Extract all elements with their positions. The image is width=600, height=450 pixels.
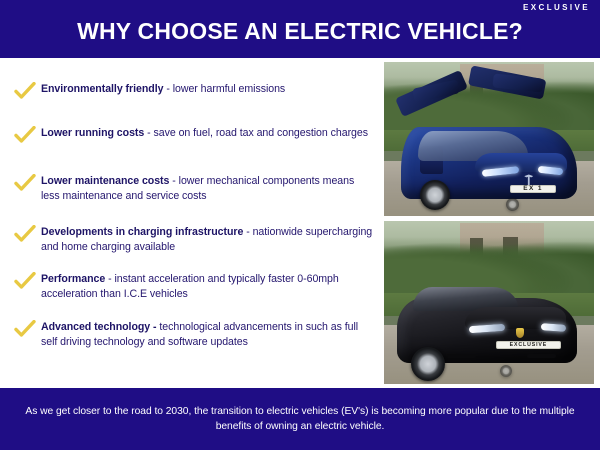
list-item-lead: Advanced technology - bbox=[41, 321, 157, 333]
list-item-lead: Lower running costs bbox=[41, 127, 144, 139]
list-item-rest: - lower harmful emissions bbox=[163, 83, 285, 95]
slide-footer: As we get closer to the road to 2030, th… bbox=[0, 388, 600, 450]
list-item: Performance - instant acceleration and t… bbox=[14, 272, 374, 301]
check-icon bbox=[14, 272, 36, 290]
benefits-list: Environmentally friendly - lower harmful… bbox=[0, 58, 378, 388]
list-item-text: Lower running costs - save on fuel, road… bbox=[41, 126, 374, 141]
list-item-text: Environmentally friendly - lower harmful… bbox=[41, 82, 374, 97]
list-item-text: Advanced technology - technological adva… bbox=[41, 320, 374, 349]
list-item: Advanced technology - technological adva… bbox=[14, 320, 374, 349]
list-item-rest: - save on fuel, road tax and congestion … bbox=[144, 127, 368, 139]
front-wheel bbox=[411, 347, 445, 381]
headlamp-left bbox=[469, 324, 506, 334]
photo-scene: EX 1 bbox=[384, 62, 594, 216]
porsche-crest-icon bbox=[516, 328, 524, 338]
black-porsche-taycan-photo: EXCLUSIVE bbox=[384, 221, 594, 384]
list-item-text: Lower maintenance costs - lower mechanic… bbox=[41, 174, 374, 203]
list-item-text: Performance - instant acceleration and t… bbox=[41, 272, 374, 301]
list-item-text: Developments in charging infrastructure … bbox=[41, 225, 374, 254]
list-item-lead: Lower maintenance costs bbox=[41, 175, 169, 187]
list-item: Developments in charging infrastructure … bbox=[14, 225, 374, 254]
slide-body: Environmentally friendly - lower harmful… bbox=[0, 58, 600, 388]
photo-scene: EXCLUSIVE bbox=[384, 221, 594, 384]
front-wheel bbox=[420, 180, 450, 210]
blue-tesla-model-x-photo: EX 1 bbox=[384, 62, 594, 216]
air-intake-left bbox=[447, 354, 476, 359]
headlamp-right bbox=[538, 166, 563, 176]
number-plate: EX 1 bbox=[510, 185, 556, 193]
footer-text: As we get closer to the road to 2030, th… bbox=[22, 404, 578, 434]
check-icon bbox=[14, 82, 36, 100]
list-item-lead: Environmentally friendly bbox=[41, 83, 163, 95]
check-icon bbox=[14, 126, 36, 144]
air-intake-right bbox=[527, 354, 556, 359]
check-icon bbox=[14, 225, 36, 243]
page-title: WHY CHOOSE AN ELECTRIC VEHICLE? bbox=[0, 18, 600, 45]
list-item: Lower running costs - save on fuel, road… bbox=[14, 126, 374, 144]
headlamp-right bbox=[541, 323, 567, 332]
brand-wordmark: EXCLUSIVE bbox=[523, 3, 590, 12]
check-icon bbox=[14, 174, 36, 192]
number-plate: EXCLUSIVE bbox=[496, 341, 561, 349]
list-item: Lower maintenance costs - lower mechanic… bbox=[14, 174, 374, 203]
slide-header: EXCLUSIVE WHY CHOOSE AN ELECTRIC VEHICLE… bbox=[0, 0, 600, 58]
photo-column: EX 1 bbox=[384, 62, 594, 384]
check-icon bbox=[14, 320, 36, 338]
list-item-lead: Developments in charging infrastructure bbox=[41, 226, 243, 238]
list-item-lead: Performance bbox=[41, 273, 105, 285]
list-item: Environmentally friendly - lower harmful… bbox=[14, 82, 374, 100]
rear-wheel bbox=[500, 365, 512, 377]
